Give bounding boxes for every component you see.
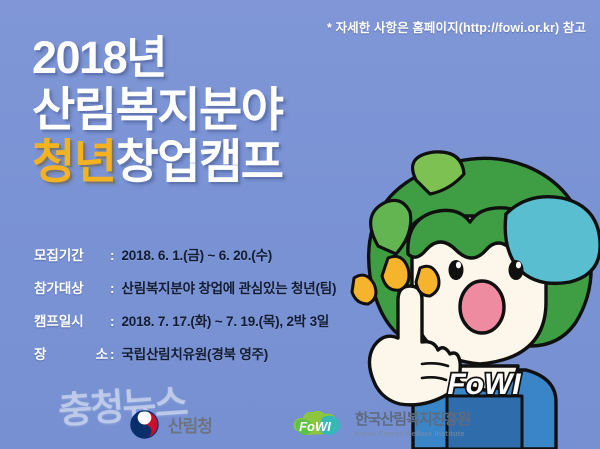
info-colon: : — [110, 347, 115, 362]
logo-label-fowi-en: Korea Forest Welfare Institute — [355, 430, 470, 438]
info-row-participants: 참가대상 : 산림복지분야 창업에 관심있는 청년(팀) — [34, 277, 336, 297]
poster-headline: 2018년 산림복지분야 청년창업캠프 — [32, 36, 282, 185]
poster-info-list: 모집기간 : 2018. 6. 1.(금) ~ 6. 20.(수) 참가대상 :… — [34, 244, 336, 363]
taegeuk-icon — [130, 410, 159, 439]
info-value-camp-date: 2018. 7. 17.(화) ~ 7. 19.(목), 2박 3일 — [122, 310, 330, 330]
info-colon: : — [110, 281, 115, 296]
headline-accent-youth: 청년 — [32, 135, 115, 188]
headline-camp: 청년창업캠프 — [32, 139, 282, 185]
fowi-mark-text: FoWI — [299, 419, 331, 434]
poster-canvas: * 자세한 사항은 홈페이지(http://fowi.or.kr) 참고 201… — [0, 0, 600, 449]
logo-label-korea-forest-service: 산림청 — [168, 412, 212, 437]
mascot-apron-wordmark: FoWI — [447, 368, 521, 401]
info-value-recruit-period: 2018. 6. 1.(금) ~ 6. 20.(수) — [122, 244, 273, 264]
fowi-mascot-illustration: FoWI — [330, 150, 600, 449]
info-label-venue: 장 소 — [34, 343, 108, 363]
sponsor-logo-bar: 산림청 FoWI 한국산림복지진흥원 Korea Forest Welfare … — [0, 409, 600, 440]
headline-year: 2018년 — [32, 36, 282, 80]
fowi-label-group: 한국산림복지진흥원 Korea Forest Welfare Institute — [355, 412, 470, 438]
info-label-venue-part-a: 장 — [34, 343, 46, 363]
info-row-recruit-period: 모집기간 : 2018. 6. 1.(금) ~ 6. 20.(수) — [34, 244, 336, 264]
homepage-note: * 자세한 사항은 홈페이지(http://fowi.or.kr) 참고 — [327, 17, 586, 36]
fowi-cloud-icon: FoWI — [290, 409, 346, 440]
logo-label-fowi-kr: 한국산림복지진흥원 — [355, 412, 470, 427]
info-label-recruit-period: 모집기간 — [34, 244, 108, 264]
info-label-camp-date: 캠프일시 — [34, 310, 108, 330]
logo-korea-forest-service: 산림청 — [130, 410, 212, 439]
logo-fowi: FoWI 한국산림복지진흥원 Korea Forest Welfare Inst… — [290, 409, 470, 440]
info-label-participants: 참가대상 — [34, 277, 108, 297]
headline-field: 산림복지분야 — [32, 87, 282, 133]
info-value-participants: 산림복지분야 창업에 관심있는 청년(팀) — [122, 277, 337, 297]
info-row-venue: 장 소 : 국립산림치유원(경북 영주) — [34, 343, 336, 363]
info-row-camp-date: 캠프일시 : 2018. 7. 17.(화) ~ 7. 19.(목), 2박 3… — [34, 310, 336, 330]
headline-startup-camp: 창업캠프 — [115, 135, 282, 188]
info-colon: : — [110, 248, 115, 263]
info-value-venue: 국립산림치유원(경북 영주) — [122, 343, 269, 363]
info-label-venue-part-b: 소 — [96, 343, 108, 363]
info-colon: : — [110, 314, 115, 329]
